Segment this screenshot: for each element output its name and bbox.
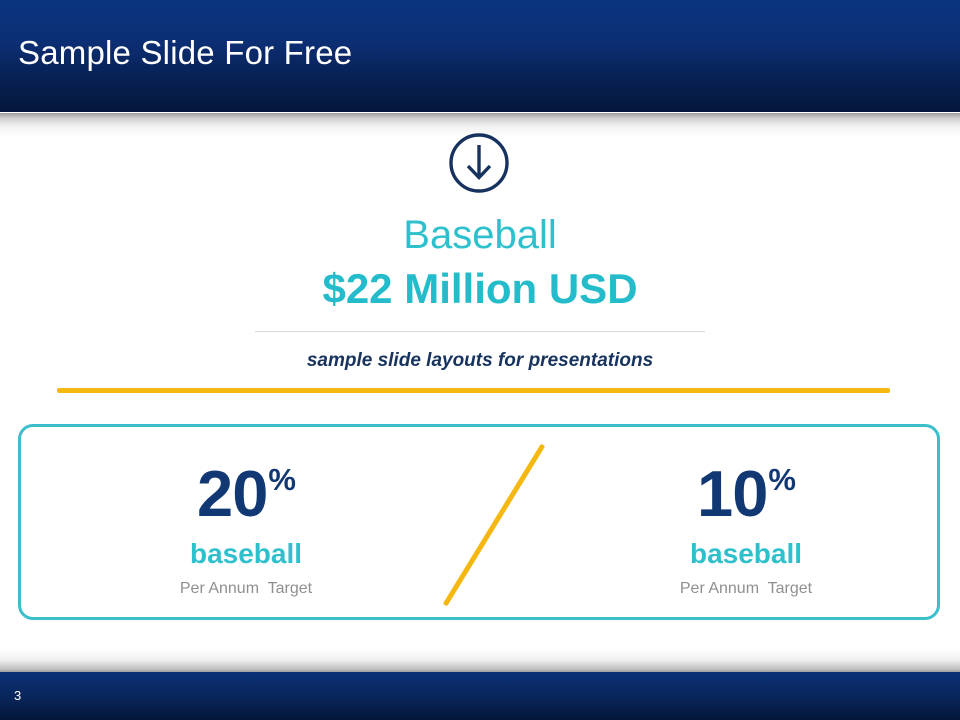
footer-shadow-divider <box>0 648 960 672</box>
stat-value-left: 20% <box>66 427 426 526</box>
slide-canvas: Sample Slide For Free Baseball $22 Milli… <box>0 0 960 720</box>
hero-heading: Baseball <box>0 214 960 256</box>
stats-panel: 20% baseball Per Annum Target 10% baseba… <box>18 424 940 620</box>
stat-sublabel-right: Per Annum Target <box>566 568 926 597</box>
stat-label-right: baseball <box>566 526 926 568</box>
stat-value-right: 10% <box>566 427 926 526</box>
stat-number-right: 10 <box>697 457 767 530</box>
stat-number-left: 20 <box>197 457 267 530</box>
gold-horizontal-rule <box>57 388 890 393</box>
down-arrow-in-circle-icon <box>447 131 511 195</box>
hero-amount: $22 Million USD <box>0 266 960 311</box>
stat-block-right: 10% baseball Per Annum Target <box>566 427 926 597</box>
slide-footer-band <box>0 672 960 720</box>
page-number: 3 <box>14 688 21 703</box>
page-title: Sample Slide For Free <box>18 34 352 72</box>
stat-percent-right: % <box>768 462 796 497</box>
stat-block-left: 20% baseball Per Annum Target <box>66 427 426 597</box>
stat-percent-left: % <box>268 462 296 497</box>
hero-subtitle: sample slide layouts for presentations <box>0 350 960 372</box>
stat-sublabel-left: Per Annum Target <box>66 568 426 597</box>
stat-label-left: baseball <box>66 526 426 568</box>
thin-divider <box>255 331 705 332</box>
